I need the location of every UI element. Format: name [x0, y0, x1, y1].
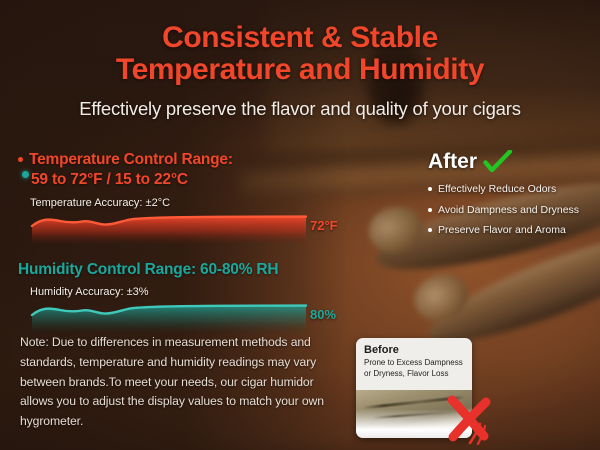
bullet-dot-icon [428, 228, 432, 232]
humidity-label: Humidity Control Range: 60-80% RH [18, 260, 278, 280]
page-title-line2: Temperature and Humidity [0, 54, 600, 86]
list-item: Preserve Flavor and Aroma [428, 224, 590, 238]
note-text: Note: Due to differences in measurement … [20, 333, 332, 432]
bullet-dot-icon [428, 187, 432, 191]
temperature-heading: Temperature Control Range: 59 to 72°F / … [18, 150, 338, 190]
temperature-block: Temperature Control Range: 59 to 72°F / … [18, 150, 338, 244]
temperature-area-chart [30, 214, 308, 244]
temperature-value: 72°F [310, 218, 338, 233]
bullet-dot-icon [428, 208, 432, 212]
temperature-label: Temperature Control Range: [29, 151, 233, 168]
list-item: Effectively Reduce Odors [428, 183, 590, 197]
after-item-label: Preserve Flavor and Aroma [438, 224, 566, 238]
temperature-chart-row: 72°F [18, 214, 338, 244]
after-item-label: Effectively Reduce Odors [438, 183, 556, 197]
after-benefit-list: Effectively Reduce Odors Avoid Dampness … [428, 183, 590, 238]
humidity-heading: Humidity Control Range: 60-80% RH [18, 260, 338, 280]
metrics-panel: Temperature Control Range: 59 to 72°F / … [18, 150, 338, 333]
temperature-range: 59 to 72°F / 15 to 22°C [29, 170, 233, 190]
page-title: Consistent & Stable Temperature and Humi… [0, 22, 600, 87]
after-item-label: Avoid Dampness and Dryness [438, 204, 579, 218]
list-item: Avoid Dampness and Dryness [428, 204, 590, 218]
humidity-block: Humidity Control Range: 60-80% RH Humidi… [18, 260, 338, 334]
indicator-dot-icon [22, 171, 29, 178]
before-subtitle: Prone to Excess Dampness or Dryness, Fla… [364, 358, 465, 380]
humidity-area-chart [30, 303, 308, 333]
humidity-value: 80% [310, 307, 336, 322]
page-subtitle: Effectively preserve the flavor and qual… [0, 98, 600, 120]
humidity-chart-row: 80% [18, 303, 338, 333]
after-panel: After Effectively Reduce Odors Avoid Dam… [428, 150, 590, 245]
check-icon [483, 150, 513, 174]
humidity-accuracy: Humidity Accuracy: ±3% [18, 286, 338, 298]
x-mark-icon [440, 390, 500, 446]
after-title: After [428, 150, 477, 174]
before-title: Before [364, 344, 465, 356]
page-title-line1: Consistent & Stable [162, 21, 438, 54]
temperature-accuracy: Temperature Accuracy: ±2°C [18, 197, 338, 209]
bullet-dot-icon [18, 157, 23, 162]
